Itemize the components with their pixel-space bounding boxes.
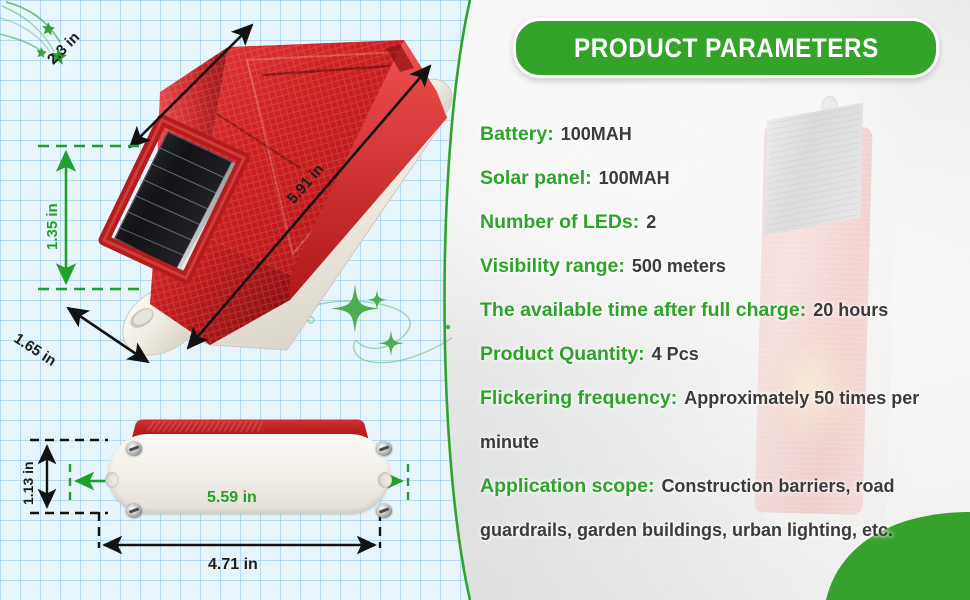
spec-label-battery: Battery: — [480, 123, 554, 145]
spec-row-product-quantity: Product Quantity:4 Pcs — [480, 333, 958, 377]
spec-label-application-scope: Application scope: — [480, 475, 654, 497]
screw-top-right — [376, 442, 392, 456]
spec-row-battery: Battery:100MAH — [480, 113, 958, 157]
spec-row-flickering-frequency: Flickering frequency:Approximately 50 ti… — [480, 377, 958, 465]
mount-slot-right — [378, 472, 392, 488]
spec-label-visibility-range: Visibility range: — [480, 255, 625, 277]
dimension-label-1-35in: 1.35 in — [44, 203, 61, 250]
spec-label-available-time: The available time after full charge: — [480, 299, 806, 321]
spec-row-solar-panel: Solar panel:100MAH — [480, 157, 958, 201]
screw-bottom-left — [126, 504, 142, 518]
page-title: PRODUCT PARAMETERS — [574, 33, 879, 64]
spec-list: Battery:100MAH Solar panel:100MAH Number… — [480, 113, 958, 553]
spec-value-product-quantity: 4 Pcs — [645, 344, 699, 364]
spec-label-flickering-frequency: Flickering frequency: — [480, 387, 677, 409]
spec-label-number-of-leds: Number of LEDs: — [480, 211, 639, 233]
dimension-label-5-59in: 5.59 in — [207, 489, 257, 507]
spec-label-solar-panel: Solar panel: — [480, 167, 592, 189]
screw-top-left — [126, 442, 142, 456]
spec-value-visibility-range: 500 meters — [625, 256, 726, 276]
product-parameters-header: PRODUCT PARAMETERS — [513, 18, 939, 78]
spec-row-application-scope: Application scope:Construction barriers,… — [480, 465, 958, 553]
screw-bottom-right — [376, 504, 392, 518]
spec-label-product-quantity: Product Quantity: — [480, 343, 645, 365]
product-parameters-infographic: 2.3 in 5.91 in 1.35 in 1.65 in 1.13 in 5… — [0, 0, 970, 600]
mount-slot-left — [105, 472, 119, 488]
spec-row-available-time: The available time after full charge:20 … — [480, 289, 958, 333]
dimension-label-4-71in: 4.71 in — [208, 556, 258, 574]
spec-value-battery: 100MAH — [554, 124, 632, 144]
spec-row-number-of-leds: Number of LEDs:2 — [480, 201, 958, 245]
dimension-label-1-13in: 1.13 in — [20, 461, 36, 505]
spec-value-number-of-leds: 2 — [639, 212, 656, 232]
spec-row-visibility-range: Visibility range:500 meters — [480, 245, 958, 289]
spec-value-solar-panel: 100MAH — [592, 168, 670, 188]
spec-value-available-time: 20 hours — [806, 300, 888, 320]
